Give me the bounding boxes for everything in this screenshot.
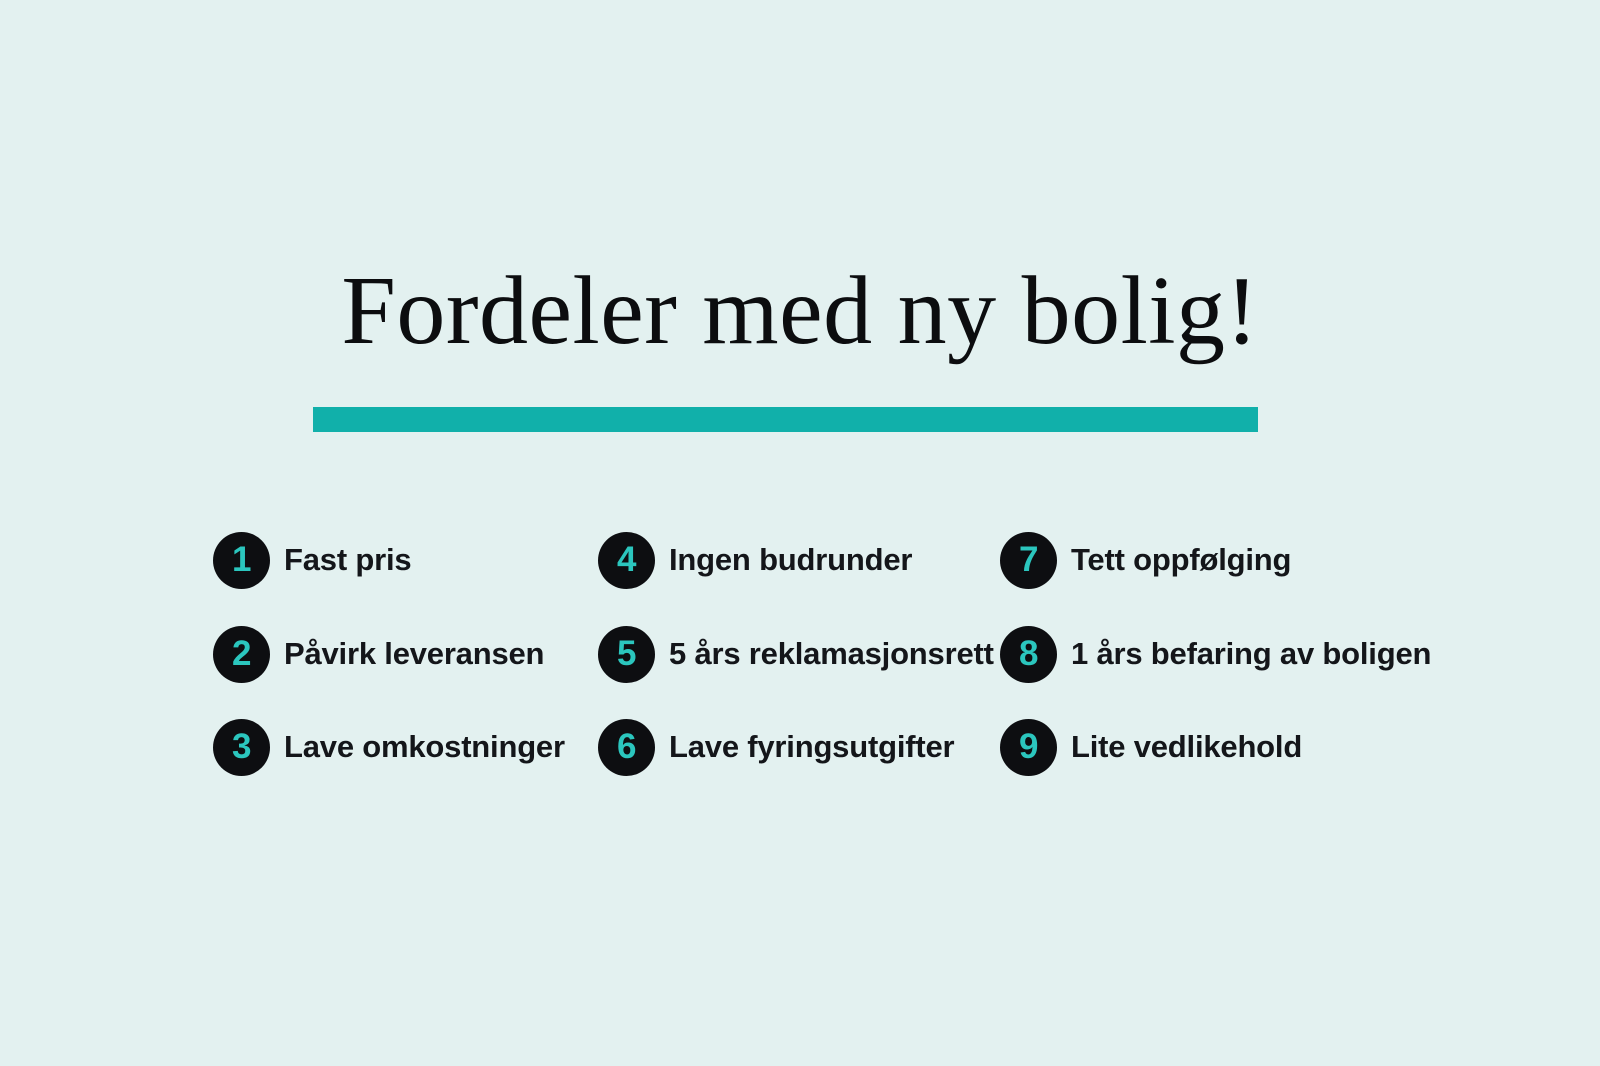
benefit-label: Tett oppfølging — [1071, 544, 1291, 575]
benefit-item: 5 5 års reklamasjonsrett — [598, 626, 994, 683]
benefit-label: Lave omkostninger — [284, 731, 565, 762]
benefit-label: Ingen budrunder — [669, 544, 912, 575]
badge-number: 2 — [232, 636, 251, 671]
accent-divider — [313, 407, 1258, 432]
badge-number: 3 — [232, 729, 251, 764]
number-badge: 9 — [1000, 719, 1057, 776]
benefit-item: 1 Fast pris — [213, 532, 411, 589]
badge-number: 8 — [1019, 636, 1038, 671]
number-badge: 7 — [1000, 532, 1057, 589]
benefit-label: Fast pris — [284, 544, 411, 575]
badge-number: 9 — [1019, 729, 1038, 764]
number-badge: 2 — [213, 626, 270, 683]
benefit-item: 8 1 års befaring av boligen — [1000, 626, 1431, 683]
benefit-label: Lite vedlikehold — [1071, 731, 1302, 762]
benefit-item: 6 Lave fyringsutgifter — [598, 719, 954, 776]
badge-number: 7 — [1019, 542, 1038, 577]
number-badge: 4 — [598, 532, 655, 589]
benefit-item: 3 Lave omkostninger — [213, 719, 565, 776]
badge-number: 5 — [617, 636, 636, 671]
number-badge: 1 — [213, 532, 270, 589]
page-title: Fordeler med ny bolig! — [0, 262, 1600, 360]
benefit-item: 2 Påvirk leveransen — [213, 626, 544, 683]
benefit-item: 4 Ingen budrunder — [598, 532, 912, 589]
number-badge: 5 — [598, 626, 655, 683]
poster-canvas: Fordeler med ny bolig! 1 Fast pris 2 Påv… — [0, 0, 1600, 1066]
title-block: Fordeler med ny bolig! — [0, 262, 1600, 360]
badge-number: 1 — [232, 542, 251, 577]
number-badge: 3 — [213, 719, 270, 776]
benefit-item: 7 Tett oppfølging — [1000, 532, 1291, 589]
benefit-label: 1 års befaring av boligen — [1071, 638, 1431, 669]
badge-number: 6 — [617, 729, 636, 764]
badge-number: 4 — [617, 542, 636, 577]
benefit-label: Lave fyringsutgifter — [669, 731, 954, 762]
benefit-item: 9 Lite vedlikehold — [1000, 719, 1302, 776]
benefit-label: 5 års reklamasjonsrett — [669, 638, 994, 669]
number-badge: 6 — [598, 719, 655, 776]
number-badge: 8 — [1000, 626, 1057, 683]
benefit-label: Påvirk leveransen — [284, 638, 544, 669]
